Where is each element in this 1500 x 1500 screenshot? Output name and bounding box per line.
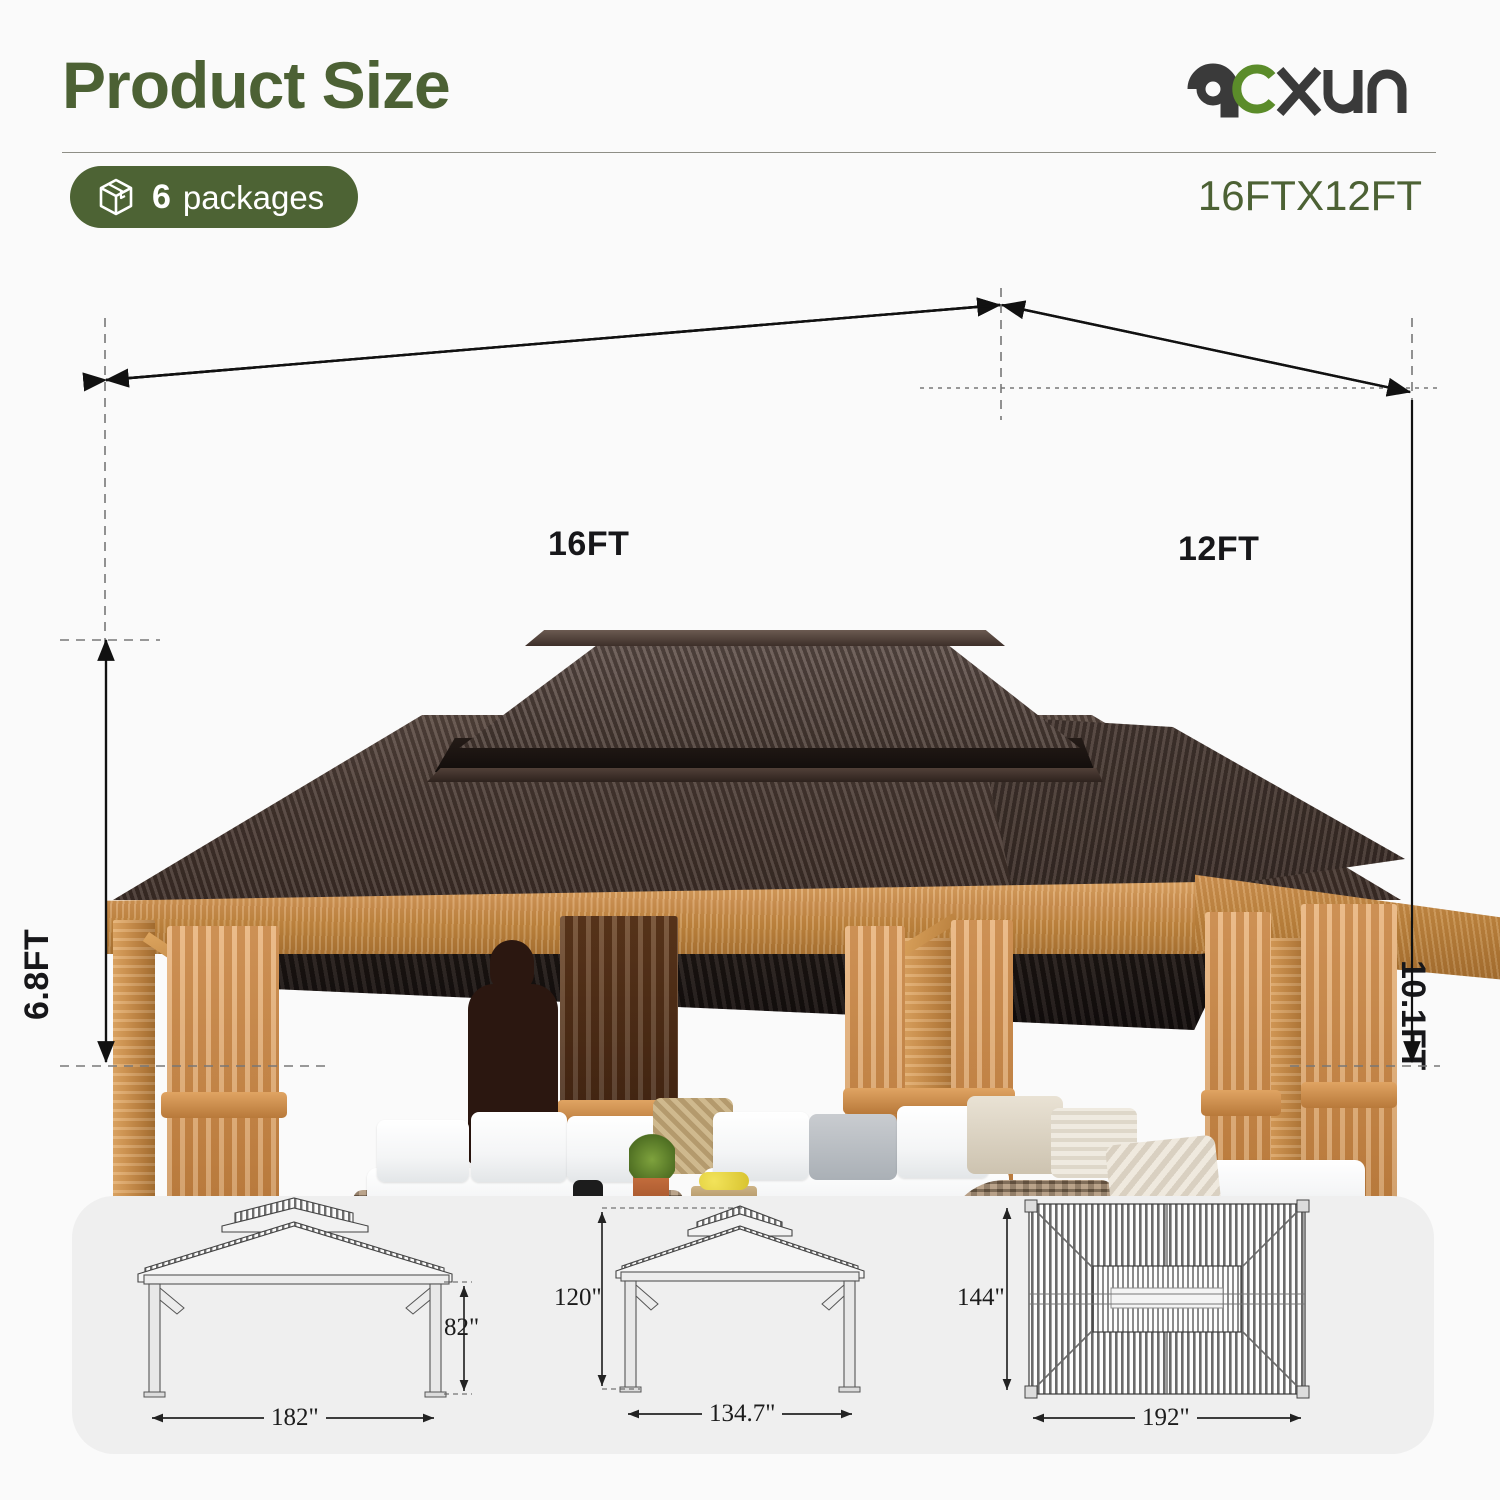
- page-title: Product Size: [62, 52, 450, 118]
- package-box-icon: [96, 177, 136, 217]
- roof-assembly: [105, 620, 1415, 920]
- package-count: 6: [152, 180, 171, 214]
- main-illustration: 16FT 12FT 6.8FT 10.1FT: [0, 240, 1500, 1160]
- roof-upper-panel: [440, 638, 1080, 748]
- diagram-side-elevation: 120" 134.7": [552, 1196, 952, 1454]
- fruit-lemons: [699, 1172, 749, 1190]
- product-size-infographic: Product Size: [0, 0, 1500, 1500]
- curtain-tie-right-outer: [1301, 1082, 1397, 1108]
- top-plan-drawing: [977, 1196, 1434, 1454]
- curtain-tie-right-inner: [1201, 1090, 1281, 1116]
- top-width-label: 192": [1135, 1404, 1197, 1432]
- top-depth-label: 144": [957, 1284, 1005, 1312]
- pillow-4: [713, 1112, 809, 1180]
- pillow-beige: [967, 1096, 1063, 1174]
- header-divider: [62, 152, 1436, 153]
- pillow-1: [377, 1120, 469, 1182]
- dimension-label-post-height: 6.8FT: [18, 929, 57, 1020]
- side-height-label: 120": [554, 1284, 602, 1312]
- front-width-label: 182": [264, 1404, 326, 1432]
- header: Product Size: [0, 0, 1500, 240]
- front-height-label: 82": [444, 1314, 479, 1342]
- pillow-2: [471, 1112, 567, 1182]
- aoxun-logo-icon: [1182, 58, 1422, 120]
- roof-vent-trim: [427, 768, 1103, 782]
- brand-logo: [1182, 58, 1422, 120]
- side-width-label: 134.7": [702, 1400, 782, 1428]
- dimension-label-peak-height: 10.1FT: [1393, 960, 1432, 1071]
- dimension-label-width: 16FT: [548, 525, 629, 564]
- roof-ridge-cap: [525, 630, 1005, 646]
- curtain-tie-left: [161, 1092, 287, 1118]
- technical-drawings-panel: 82" 182": [72, 1196, 1434, 1454]
- package-label: packages: [183, 181, 324, 214]
- dimension-label-depth: 12FT: [1178, 530, 1259, 569]
- package-count-badge: 6 packages: [70, 166, 358, 228]
- size-code: 16FTX12FT: [1198, 172, 1422, 220]
- pillow-gray: [809, 1114, 897, 1180]
- plant-foliage: [629, 1132, 675, 1178]
- diagram-front-elevation: 82" 182": [72, 1196, 542, 1454]
- diagram-top-plan: 144" 192": [977, 1196, 1434, 1454]
